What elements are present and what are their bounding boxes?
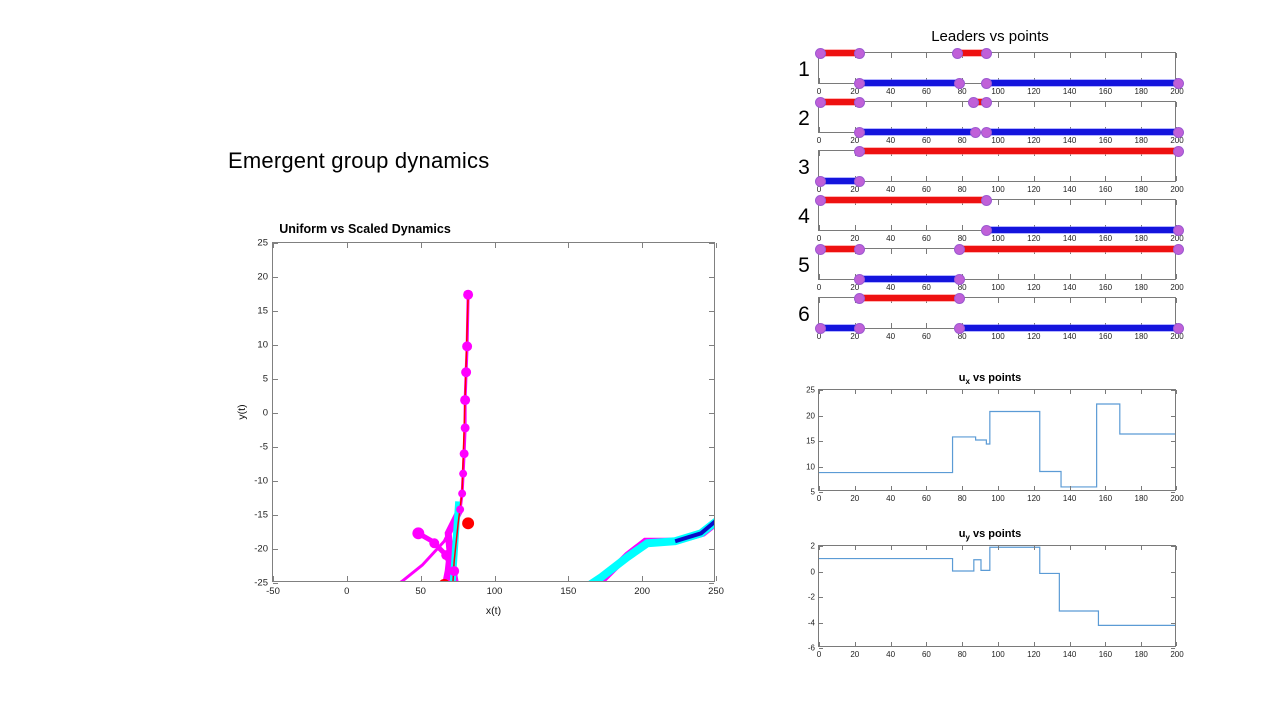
u-x-tick-mark (1034, 546, 1035, 550)
trajectory-x-tick-mark (421, 576, 422, 581)
leader-x-tick-mark (891, 249, 892, 254)
u-x-tick-mark (1070, 642, 1071, 646)
leader-x-tick-label: 120 (1027, 87, 1040, 96)
u-x-tick-mark (855, 642, 856, 646)
uy-title: uy vs points (790, 528, 1190, 542)
leader-x-tick-mark (998, 298, 999, 303)
u-x-tick-mark (1070, 390, 1071, 394)
leader-x-tick-mark (1070, 102, 1071, 107)
leader-x-tick-mark (1176, 176, 1177, 181)
trajectory-y-tick-mark (709, 345, 714, 346)
u-x-tick-mark (1176, 390, 1177, 394)
trajectory-plot-area: 2520151050-5-10-15-20-25-500501001502002… (272, 242, 715, 582)
trajectory-y-tick-mark (273, 345, 278, 346)
trajectory-x-tick-mark (273, 243, 274, 248)
u-x-tick-mark (1141, 486, 1142, 490)
leader-x-tick-mark (998, 102, 999, 107)
u-x-tick-mark (855, 390, 856, 394)
leader-x-tick-label: 0 (817, 136, 821, 145)
leader-x-tick-label: 100 (991, 87, 1004, 96)
u-x-tick-mark (926, 546, 927, 550)
leader-x-tick-mark (926, 102, 927, 107)
leader-x-tick-mark (855, 225, 856, 230)
u-x-tick-mark (926, 390, 927, 394)
trajectory-y-tick-label: -15 (254, 510, 268, 521)
leader-segment-endpoint (815, 97, 826, 108)
leader-x-tick-mark (1141, 200, 1142, 205)
trajectory-x-tick-label: 250 (708, 586, 724, 597)
leader-segment-endpoint (968, 97, 979, 108)
u-x-tick-mark (1034, 390, 1035, 394)
step-line-series (819, 404, 1175, 487)
u-x-tick-mark (1141, 390, 1142, 394)
leader-x-tick-mark (1034, 274, 1035, 279)
leader-row-index: 5 (793, 252, 815, 280)
trajectory-x-tick-mark (347, 576, 348, 581)
leader-x-tick-label: 140 (1063, 234, 1076, 243)
u-x-tick-label: 0 (817, 650, 821, 659)
trajectory-plot-svg (273, 243, 714, 581)
uy-title-rest: vs points (970, 528, 1021, 540)
leader-row-index: 4 (793, 203, 815, 231)
leader-x-tick-label: 60 (922, 87, 931, 96)
trajectory-y-tick-mark (709, 379, 714, 380)
u-y-tick-label: 10 (806, 462, 815, 471)
leader-segment-endpoint (954, 244, 965, 255)
u-y-tick-mark (819, 492, 823, 493)
trajectory-y-tick-mark (273, 379, 278, 380)
leader-segment-red (819, 197, 985, 203)
leader-x-tick-mark (1176, 53, 1177, 58)
u-y-tick-mark (1171, 416, 1175, 417)
u-x-tick-mark (819, 390, 820, 394)
leader-x-tick-mark (1034, 53, 1035, 58)
leader-segment-blue (858, 129, 974, 135)
trajectory-y-tick-mark (709, 515, 714, 516)
leader-x-tick-label: 120 (1027, 136, 1040, 145)
leader-x-tick-label: 160 (1099, 136, 1112, 145)
u-x-tick-label: 200 (1170, 494, 1183, 503)
leader-x-tick-label: 40 (886, 87, 895, 96)
leaders-panel: Leaders vs points 1020406080100120140160… (790, 28, 1190, 358)
leader-x-tick-label: 80 (958, 136, 967, 145)
leader-row-index: 3 (793, 154, 815, 182)
leader-segment-blue (985, 129, 1177, 135)
leader-segment-red (959, 246, 1177, 252)
u-x-tick-label: 60 (922, 650, 931, 659)
u-x-tick-label: 180 (1135, 494, 1148, 503)
u-x-tick-label: 40 (886, 650, 895, 659)
u-y-tick-mark (1171, 623, 1175, 624)
u-x-tick-mark (1070, 486, 1071, 490)
leader-x-tick-label: 120 (1027, 283, 1040, 292)
u-x-tick-label: 20 (850, 650, 859, 659)
leader-segment-endpoint (815, 48, 826, 59)
leader-row: 6020406080100120140160180200 (790, 295, 1190, 343)
u-x-tick-label: 200 (1170, 650, 1183, 659)
leader-row-plot-area: 020406080100120140160180200 (818, 52, 1176, 84)
leader-x-tick-mark (819, 298, 820, 303)
u-y-tick-label: 0 (811, 567, 815, 576)
trajectory-x-tick-mark (716, 576, 717, 581)
leader-x-tick-mark (1105, 200, 1106, 205)
leader-x-tick-label: 100 (991, 136, 1004, 145)
trajectory-y-tick-mark (273, 413, 278, 414)
leader-x-tick-label: 180 (1135, 185, 1148, 194)
leader-x-tick-mark (819, 127, 820, 132)
leader-segment-endpoint (854, 78, 865, 89)
leader-x-tick-label: 40 (886, 283, 895, 292)
leader-segment-endpoint (815, 195, 826, 206)
leader-x-tick-label: 120 (1027, 332, 1040, 341)
leader-x-tick-label: 160 (1099, 283, 1112, 292)
leader-x-tick-mark (1141, 298, 1142, 303)
leader-x-tick-mark (891, 53, 892, 58)
leader-x-tick-label: 160 (1099, 332, 1112, 341)
u-x-tick-mark (962, 642, 963, 646)
u-y-tick-label: 15 (806, 437, 815, 446)
leader-x-tick-label: 200 (1170, 283, 1183, 292)
leader-x-tick-label: 120 (1027, 234, 1040, 243)
leader-x-tick-label: 0 (817, 234, 821, 243)
trajectory-y-tick-mark (273, 311, 278, 312)
leader-x-tick-label: 160 (1099, 185, 1112, 194)
leader-x-tick-mark (962, 176, 963, 181)
trajectory-x-tick-label: 50 (415, 586, 426, 597)
leader-x-tick-mark (1034, 200, 1035, 205)
leader-segment-endpoint (981, 195, 992, 206)
trajectory-y-tick-mark (709, 447, 714, 448)
leader-row: 5020406080100120140160180200 (790, 246, 1190, 294)
leader-x-tick-label: 80 (958, 234, 967, 243)
trajectory-y-tick-mark (273, 447, 278, 448)
u-y-tick-mark (1171, 467, 1175, 468)
leader-row: 4020406080100120140160180200 (790, 197, 1190, 245)
u-x-tick-mark (819, 546, 820, 550)
u-x-tick-mark (855, 486, 856, 490)
leader-segment-endpoint (981, 97, 992, 108)
trajectory-y-tick-label: 20 (257, 272, 268, 283)
u-x-tick-mark (926, 642, 927, 646)
u-y-tick-label: -4 (808, 618, 815, 627)
u-x-tick-mark (855, 546, 856, 550)
leader-x-tick-mark (819, 151, 820, 156)
trajectory-y-tick-mark (709, 311, 714, 312)
u-x-tick-mark (891, 546, 892, 550)
leader-segment-endpoint (981, 78, 992, 89)
leader-x-tick-label: 100 (991, 185, 1004, 194)
leader-row: 3020406080100120140160180200 (790, 148, 1190, 196)
u-x-tick-mark (926, 486, 927, 490)
u-x-tick-mark (1105, 486, 1106, 490)
leader-row-index: 6 (793, 301, 815, 329)
leader-x-tick-label: 200 (1170, 185, 1183, 194)
trajectory-x-tick-mark (421, 243, 422, 248)
leader-x-tick-mark (926, 249, 927, 254)
leader-segment-endpoint (854, 48, 865, 59)
u-x-tick-mark (1176, 546, 1177, 550)
leaders-title: Leaders vs points (790, 28, 1190, 45)
leader-x-tick-label: 60 (922, 185, 931, 194)
leader-x-tick-label: 100 (991, 332, 1004, 341)
leader-segment-blue (858, 276, 958, 282)
leader-x-tick-mark (1070, 298, 1071, 303)
leader-segment-endpoint (854, 323, 865, 334)
leader-x-tick-mark (891, 102, 892, 107)
leader-x-tick-label: 60 (922, 283, 931, 292)
leader-x-tick-label: 160 (1099, 87, 1112, 96)
trajectory-y-tick-mark (709, 243, 714, 244)
u-y-tick-mark (819, 597, 823, 598)
u-x-tick-mark (998, 486, 999, 490)
u-x-tick-label: 140 (1063, 650, 1076, 659)
leader-segment-endpoint (815, 244, 826, 255)
u-x-tick-mark (962, 390, 963, 394)
trajectory-y-tick-mark (273, 583, 278, 584)
u-y-tick-label: 25 (806, 386, 815, 395)
leader-x-tick-mark (1070, 53, 1071, 58)
u-x-tick-mark (819, 486, 820, 490)
leader-segment-endpoint (854, 176, 865, 187)
leader-x-tick-label: 140 (1063, 136, 1076, 145)
leader-row-index: 1 (793, 56, 815, 84)
leader-segment-blue (985, 80, 1177, 86)
leader-x-tick-label: 120 (1027, 185, 1040, 194)
leader-segment-blue (858, 80, 958, 86)
leader-x-tick-mark (998, 274, 999, 279)
trajectory-y-tick-label: 25 (257, 238, 268, 249)
u-x-tick-label: 80 (958, 494, 967, 503)
u-x-tick-mark (998, 642, 999, 646)
leader-x-tick-mark (1034, 102, 1035, 107)
leader-x-tick-mark (1141, 102, 1142, 107)
trajectory-x-tick-label: 150 (560, 586, 576, 597)
leader-x-tick-mark (1105, 298, 1106, 303)
leader-segment-endpoint (1173, 225, 1184, 236)
trajectory-y-tick-mark (273, 481, 278, 482)
ux-plot-area: 510152025020406080100120140160180200 (818, 389, 1176, 491)
leader-row-plot-area: 020406080100120140160180200 (818, 150, 1176, 182)
leader-row-index: 2 (793, 105, 815, 133)
u-y-tick-mark (819, 572, 823, 573)
leader-x-tick-mark (1176, 274, 1177, 279)
leader-x-tick-label: 140 (1063, 87, 1076, 96)
trajectory-x-tick-mark (568, 243, 569, 248)
u-y-tick-label: -6 (808, 644, 815, 653)
leader-x-tick-mark (1176, 298, 1177, 303)
leader-row: 2020406080100120140160180200 (790, 99, 1190, 147)
leader-x-tick-mark (962, 225, 963, 230)
leader-x-tick-mark (1105, 102, 1106, 107)
u-x-tick-mark (1141, 546, 1142, 550)
leader-x-tick-mark (1176, 102, 1177, 107)
trajectory-y-tick-label: -5 (260, 442, 268, 453)
leader-x-tick-mark (998, 53, 999, 58)
trajectory-x-tick-mark (347, 243, 348, 248)
leader-x-tick-label: 180 (1135, 87, 1148, 96)
leader-x-tick-mark (1070, 176, 1071, 181)
leader-segment-blue (985, 227, 1177, 233)
leader-x-tick-mark (891, 176, 892, 181)
u-x-tick-label: 180 (1135, 650, 1148, 659)
u-y-tick-label: 5 (811, 488, 815, 497)
u-x-tick-mark (1176, 486, 1177, 490)
ux-plot-svg (819, 390, 1175, 490)
leader-x-tick-mark (1034, 176, 1035, 181)
u-y-tick-label: 20 (806, 411, 815, 420)
leader-x-tick-label: 100 (991, 234, 1004, 243)
u-x-tick-label: 120 (1027, 494, 1040, 503)
trajectory-figure: Uniform vs Scaled Dynamics x(t) y(t) (130, 222, 600, 612)
leader-x-tick-label: 60 (922, 234, 931, 243)
leader-x-tick-mark (998, 176, 999, 181)
leader-x-tick-label: 60 (922, 136, 931, 145)
trajectory-y-tick-mark (273, 549, 278, 550)
trajectory-x-axis-label: x(t) (272, 605, 715, 617)
leader-x-tick-label: 0 (817, 87, 821, 96)
u-x-tick-mark (1034, 642, 1035, 646)
leader-segment-endpoint (1173, 323, 1184, 334)
leader-row-plot-area: 020406080100120140160180200 (818, 101, 1176, 133)
leader-x-tick-mark (1105, 176, 1106, 181)
trajectory-title: Uniform vs Scaled Dynamics (130, 222, 600, 236)
trajectory-x-tick-label: 100 (487, 586, 503, 597)
leader-x-tick-mark (1070, 274, 1071, 279)
trajectory-y-tick-label: 10 (257, 340, 268, 351)
u-x-tick-mark (1034, 486, 1035, 490)
leader-row-plot-area: 020406080100120140160180200 (818, 199, 1176, 231)
leader-x-tick-label: 140 (1063, 185, 1076, 194)
u-y-tick-mark (819, 416, 823, 417)
leader-x-tick-label: 100 (991, 283, 1004, 292)
u-y-tick-mark (819, 648, 823, 649)
leader-segment-endpoint (1173, 146, 1184, 157)
leader-x-tick-mark (819, 274, 820, 279)
leader-row-plot-area: 020406080100120140160180200 (818, 248, 1176, 280)
u-x-tick-mark (1105, 546, 1106, 550)
leader-x-tick-mark (1141, 53, 1142, 58)
leader-x-tick-mark (926, 53, 927, 58)
leader-segment-endpoint (854, 97, 865, 108)
leader-x-tick-mark (891, 323, 892, 328)
trajectory-x-tick-mark (568, 576, 569, 581)
leader-x-tick-mark (926, 225, 927, 230)
leader-x-tick-label: 160 (1099, 234, 1112, 243)
leader-x-tick-label: 180 (1135, 283, 1148, 292)
u-x-tick-mark (998, 390, 999, 394)
leader-x-tick-mark (819, 225, 820, 230)
leader-x-tick-label: 40 (886, 332, 895, 341)
leader-x-tick-mark (1141, 274, 1142, 279)
leader-segment-endpoint (854, 274, 865, 285)
u-x-tick-label: 0 (817, 494, 821, 503)
trajectory-y-tick-label: 5 (263, 374, 268, 385)
u-x-tick-label: 20 (850, 494, 859, 503)
u-x-tick-label: 100 (991, 650, 1004, 659)
trajectory-x-tick-label: 0 (344, 586, 349, 597)
u-y-tick-mark (819, 623, 823, 624)
leader-x-tick-label: 60 (922, 332, 931, 341)
leader-segment-endpoint (981, 225, 992, 236)
step-line-series (819, 547, 1175, 625)
u-x-tick-label: 120 (1027, 650, 1040, 659)
u-x-tick-mark (891, 390, 892, 394)
trajectory-series-blue (333, 420, 714, 581)
leader-x-tick-mark (1105, 274, 1106, 279)
leader-segment-endpoint (854, 293, 865, 304)
leader-segment-endpoint (854, 127, 865, 138)
u-x-tick-label: 40 (886, 494, 895, 503)
u-y-tick-label: -2 (808, 593, 815, 602)
leader-x-tick-label: 40 (886, 234, 895, 243)
trajectory-y-tick-mark (709, 583, 714, 584)
leader-segment-endpoint (981, 48, 992, 59)
u-x-tick-mark (891, 486, 892, 490)
leader-segment-endpoint (854, 244, 865, 255)
u-y-tick-mark (1171, 546, 1175, 547)
trajectory-y-tick-mark (709, 413, 714, 414)
leader-segment-endpoint (1173, 244, 1184, 255)
leader-x-tick-label: 180 (1135, 332, 1148, 341)
leader-x-tick-label: 80 (958, 185, 967, 194)
uy-figure: uy vs points 20-2-4-60204060801001201401… (790, 528, 1190, 678)
u-x-tick-mark (998, 546, 999, 550)
leader-x-tick-mark (926, 176, 927, 181)
u-x-tick-mark (962, 546, 963, 550)
trajectory-x-tick-mark (273, 576, 274, 581)
u-x-tick-label: 80 (958, 650, 967, 659)
leader-segment-endpoint (1173, 127, 1184, 138)
u-y-tick-mark (1171, 390, 1175, 391)
leader-segment-endpoint (854, 146, 865, 157)
u-y-tick-mark (1171, 492, 1175, 493)
u-x-tick-label: 140 (1063, 494, 1076, 503)
leader-x-tick-label: 40 (886, 136, 895, 145)
leader-segment-endpoint (981, 127, 992, 138)
trajectory-x-tick-mark (642, 243, 643, 248)
leader-segment-endpoint (970, 127, 981, 138)
leader-x-tick-mark (1070, 200, 1071, 205)
u-y-tick-mark (819, 441, 823, 442)
u-x-tick-mark (1141, 642, 1142, 646)
u-y-tick-mark (1171, 648, 1175, 649)
leader-x-tick-mark (819, 78, 820, 83)
leader-x-tick-mark (1141, 176, 1142, 181)
trajectory-y-tick-label: 15 (257, 306, 268, 317)
trajectory-y-tick-label: -20 (254, 544, 268, 555)
leader-segment-red (858, 148, 1177, 154)
ux-title-rest: vs points (970, 372, 1021, 384)
leader-row-plot-area: 020406080100120140160180200 (818, 297, 1176, 329)
leader-row: 1020406080100120140160180200 (790, 50, 1190, 98)
u-x-tick-label: 160 (1099, 494, 1112, 503)
leader-x-tick-mark (998, 200, 999, 205)
u-x-tick-mark (1176, 642, 1177, 646)
u-x-tick-mark (1105, 642, 1106, 646)
u-x-tick-mark (962, 486, 963, 490)
leader-x-tick-mark (1034, 298, 1035, 303)
leader-x-tick-mark (962, 102, 963, 107)
u-y-tick-mark (1171, 572, 1175, 573)
u-x-tick-mark (891, 642, 892, 646)
leader-x-tick-mark (1105, 53, 1106, 58)
u-y-tick-mark (1171, 441, 1175, 442)
leader-x-tick-label: 0 (817, 283, 821, 292)
u-x-tick-label: 160 (1099, 650, 1112, 659)
trajectory-y-tick-mark (709, 549, 714, 550)
ux-figure: ux vs points 510152025020406080100120140… (790, 372, 1190, 522)
u-y-tick-label: 2 (811, 542, 815, 551)
